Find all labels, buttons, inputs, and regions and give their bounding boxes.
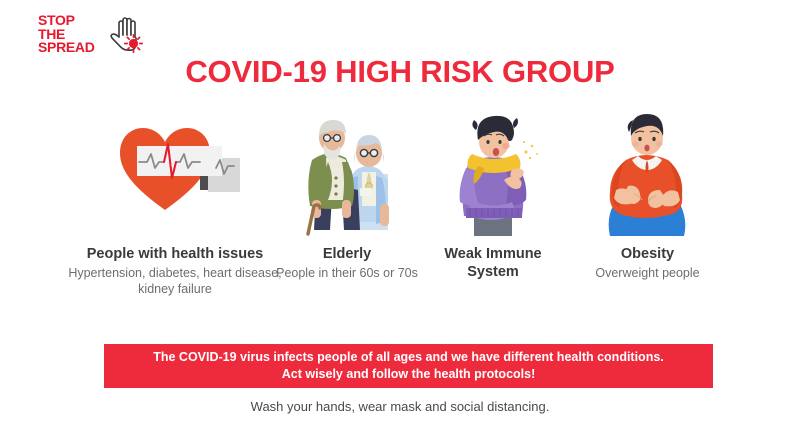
coughing-person-icon xyxy=(438,108,548,238)
advisory-banner-text: The COVID-19 virus infects people of all… xyxy=(141,349,676,383)
risk-column-immune: Weak Immune System xyxy=(418,108,568,238)
footer-note: Wash your hands, wear mask and social di… xyxy=(0,399,800,414)
overweight-person-icon xyxy=(590,108,705,238)
risk-subtext-obesity: Overweight people xyxy=(565,265,730,281)
risk-subtext-elderly: People in their 60s or 70s xyxy=(272,265,422,281)
advisory-banner: The COVID-19 virus infects people of all… xyxy=(104,344,713,388)
advisory-line-2: Act wisely and follow the health protoco… xyxy=(282,367,536,381)
page-title: COVID-19 HIGH RISK GROUP xyxy=(0,54,800,90)
advisory-line-1: The COVID-19 virus infects people of all… xyxy=(153,350,664,364)
risk-heading-obesity: Obesity xyxy=(565,245,730,263)
hand-stop-virus-icon xyxy=(108,13,148,57)
logo-text: STOP THE SPREAD xyxy=(38,14,110,55)
risk-heading-elderly: Elderly xyxy=(272,245,422,263)
risk-column-health: People with health issues Hypertension, … xyxy=(60,108,290,218)
risk-column-obesity: Obesity Overweight people xyxy=(565,108,730,238)
risk-group-columns: People with health issues Hypertension, … xyxy=(0,108,800,328)
virus-glyph xyxy=(125,35,142,52)
risk-heading-immune: Weak Immune System xyxy=(418,245,568,281)
elderly-couple-icon xyxy=(290,108,405,238)
risk-subtext-health: Hypertension, diabetes, heart disease, k… xyxy=(60,265,290,297)
logo-line-3: SPREAD xyxy=(38,41,110,55)
elderly-man xyxy=(308,120,360,234)
infographic-canvas: STOP THE SPREAD xyxy=(0,0,800,440)
risk-heading-health: People with health issues xyxy=(60,245,290,263)
risk-column-elderly: Elderly People in their 60s or 70s xyxy=(272,108,422,238)
heart-ecg-icon xyxy=(110,108,240,218)
